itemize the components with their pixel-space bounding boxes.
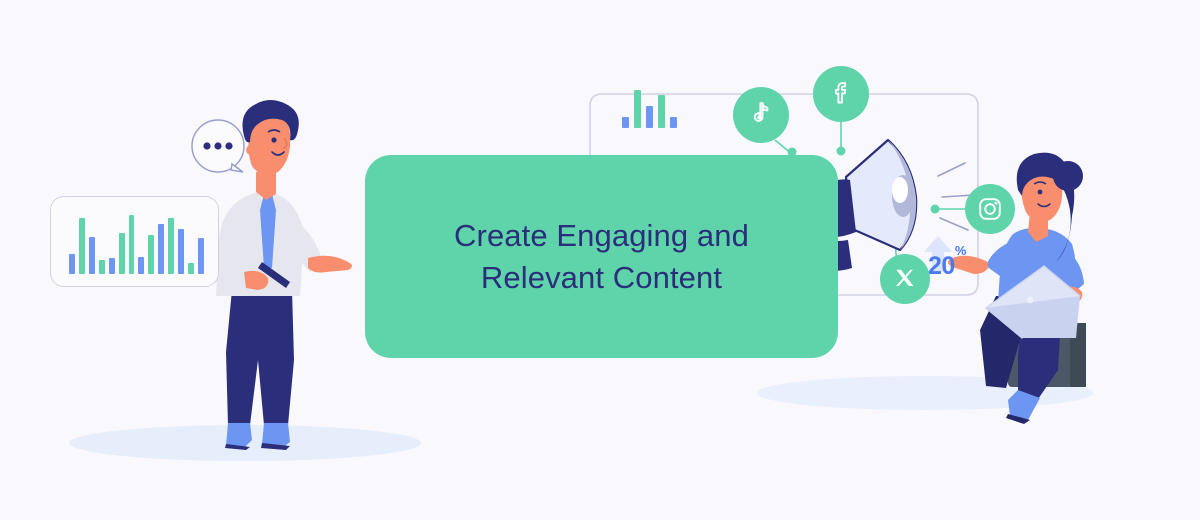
bar (99, 260, 105, 274)
social-badge-x[interactable] (880, 254, 930, 304)
bar (188, 263, 194, 274)
bar (198, 238, 204, 274)
instagram-icon (976, 195, 1004, 223)
stat-unit: % (955, 243, 966, 258)
bar (148, 235, 154, 274)
bar (158, 224, 164, 274)
bar (622, 117, 629, 128)
social-badge-instagram[interactable] (965, 184, 1015, 234)
bar (168, 218, 174, 274)
stat-percentage: 20% (928, 252, 966, 281)
bar (79, 218, 85, 274)
bar (138, 257, 144, 274)
banner-headline: Create Engaging and Relevant Content (454, 215, 749, 297)
tiktok-icon (746, 100, 776, 130)
illustration-canvas: Create Engaging and Relevant Content (0, 0, 1200, 520)
bar-chart-card (50, 196, 219, 287)
headline-banner: Create Engaging and Relevant Content (365, 155, 838, 358)
bar (119, 233, 125, 274)
social-badge-tiktok[interactable] (733, 87, 789, 143)
facebook-icon (826, 79, 856, 109)
mini-bar-chart-icon (622, 88, 678, 128)
bar-chart-bars (69, 212, 204, 274)
bar (178, 229, 184, 274)
bar (634, 90, 641, 128)
bar (109, 258, 115, 274)
social-badge-facebook[interactable] (813, 66, 869, 122)
bar (658, 95, 665, 128)
x-twitter-icon (892, 266, 918, 292)
bar (670, 117, 677, 128)
bar (89, 237, 95, 274)
bar (129, 215, 135, 274)
stat-value: 20 (928, 252, 955, 280)
bar (646, 106, 653, 128)
bar (69, 254, 75, 274)
